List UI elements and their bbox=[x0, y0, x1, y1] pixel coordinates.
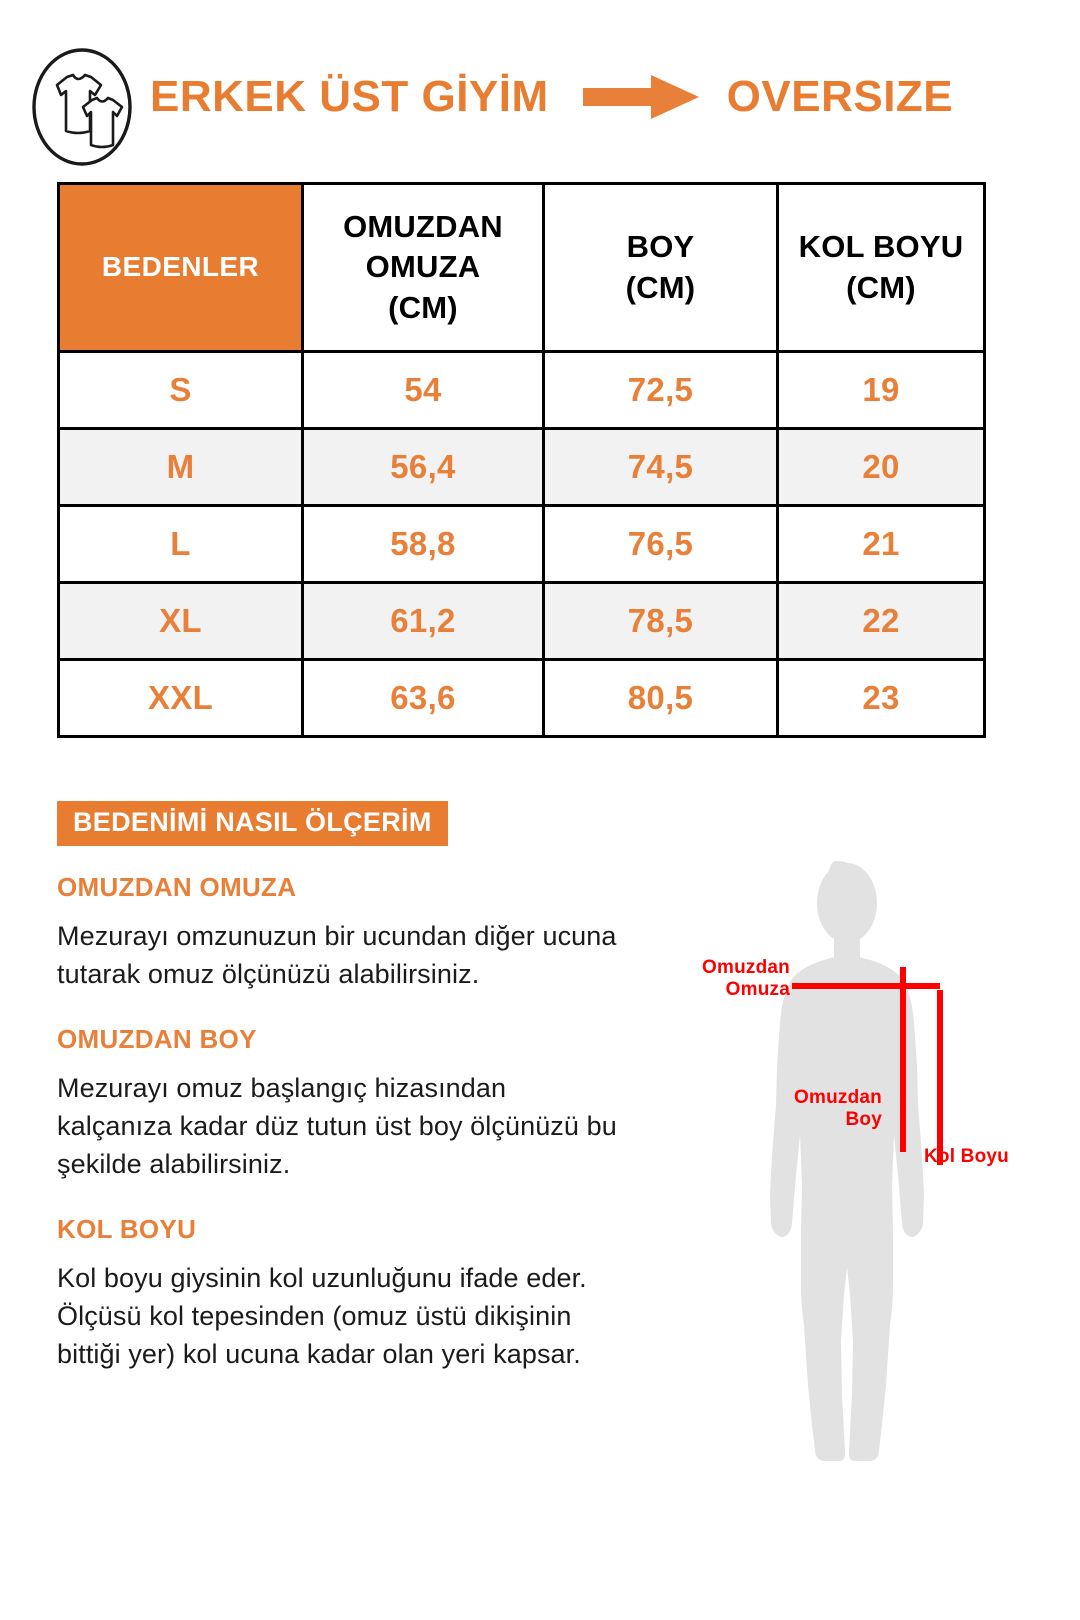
header-title-row: ERKEK ÜST GİYİM OVERSIZE bbox=[150, 62, 953, 132]
section-body-omuzdan-boy: Mezurayı omuz başlangıç hizasından kalça… bbox=[57, 1069, 617, 1184]
cell-omuzdan-omuza: 58,8 bbox=[303, 506, 544, 583]
table-header-row: BEDENLER OMUZDAN OMUZA (CM) BOY (CM) KOL… bbox=[59, 184, 985, 352]
cell-beden: L bbox=[59, 506, 303, 583]
label-line: Omuzdan bbox=[772, 1087, 882, 1109]
section-title-omuzdan-omuza: OMUZDAN OMUZA bbox=[57, 872, 617, 903]
header-line: (CM) bbox=[304, 288, 542, 328]
section-body-omuzdan-omuza: Mezurayı omzunuzun bir ucundan diğer ucu… bbox=[57, 917, 617, 994]
header-line: OMUZA bbox=[304, 247, 542, 287]
table-row: L 58,8 76,5 21 bbox=[59, 506, 985, 583]
label-line: Omuzdan bbox=[630, 957, 790, 979]
category-title: ERKEK ÜST GİYİM bbox=[150, 75, 549, 119]
section-title-omuzdan-boy: OMUZDAN BOY bbox=[57, 1024, 617, 1055]
howto-sections: OMUZDAN OMUZA Mezurayı omzunuzun bir ucu… bbox=[57, 872, 617, 1374]
label-line: Boy bbox=[772, 1109, 882, 1131]
label-line: Omuza bbox=[630, 979, 790, 1001]
cell-kol-boyu: 19 bbox=[778, 352, 985, 429]
label-kol-boyu: Kol Boyu bbox=[924, 1146, 1009, 1168]
cell-omuzdan-omuza: 54 bbox=[303, 352, 544, 429]
right-arrow-icon bbox=[583, 74, 699, 120]
cell-boy: 72,5 bbox=[544, 352, 778, 429]
table-row: XXL 63,6 80,5 23 bbox=[59, 660, 985, 737]
header-line: KOL BOYU bbox=[779, 227, 983, 267]
two-tshirts-circle-icon bbox=[27, 45, 137, 170]
fit-title: OVERSIZE bbox=[727, 75, 954, 119]
cell-omuzdan-omuza: 61,2 bbox=[303, 583, 544, 660]
cell-kol-boyu: 22 bbox=[778, 583, 985, 660]
cell-kol-boyu: 20 bbox=[778, 429, 985, 506]
cell-boy: 74,5 bbox=[544, 429, 778, 506]
cell-beden: XL bbox=[59, 583, 303, 660]
cell-boy: 76,5 bbox=[544, 506, 778, 583]
label-omuzdan-boy: Omuzdan Boy bbox=[772, 1087, 882, 1132]
header-line: (CM) bbox=[545, 268, 776, 308]
header-line: BOY bbox=[545, 227, 776, 267]
header-line: BEDENLER bbox=[60, 249, 301, 285]
cell-beden: S bbox=[59, 352, 303, 429]
table-row: S 54 72,5 19 bbox=[59, 352, 985, 429]
label-line: Kol Boyu bbox=[924, 1146, 1009, 1168]
size-chart-table: BEDENLER OMUZDAN OMUZA (CM) BOY (CM) KOL… bbox=[57, 182, 986, 738]
header-line: OMUZDAN bbox=[304, 207, 542, 247]
cell-omuzdan-omuza: 56,4 bbox=[303, 429, 544, 506]
cell-boy: 80,5 bbox=[544, 660, 778, 737]
cell-beden: M bbox=[59, 429, 303, 506]
section-body-kol-boyu: Kol boyu giysinin kol uzunluğunu ifade e… bbox=[57, 1259, 617, 1374]
cell-kol-boyu: 21 bbox=[778, 506, 985, 583]
cell-boy: 78,5 bbox=[544, 583, 778, 660]
column-header-boy: BOY (CM) bbox=[544, 184, 778, 352]
cell-beden: XXL bbox=[59, 660, 303, 737]
header-line: (CM) bbox=[779, 268, 983, 308]
howto-badge: BEDENİMİ NASIL ÖLÇERİM bbox=[57, 801, 448, 846]
table-row: M 56,4 74,5 20 bbox=[59, 429, 985, 506]
cell-omuzdan-omuza: 63,6 bbox=[303, 660, 544, 737]
label-omuzdan-omuza: Omuzdan Omuza bbox=[630, 957, 790, 1002]
column-header-bedenler: BEDENLER bbox=[59, 184, 303, 352]
column-header-kol-boyu: KOL BOYU (CM) bbox=[778, 184, 985, 352]
section-title-kol-boyu: KOL BOYU bbox=[57, 1214, 617, 1245]
page-header: ERKEK ÜST GİYİM OVERSIZE bbox=[0, 0, 1080, 180]
measurement-diagram: Omuzdan Omuza Omuzdan Boy Kol Boyu bbox=[620, 855, 1060, 1480]
table-row: XL 61,2 78,5 22 bbox=[59, 583, 985, 660]
column-header-omuzdan-omuza: OMUZDAN OMUZA (CM) bbox=[303, 184, 544, 352]
cell-kol-boyu: 23 bbox=[778, 660, 985, 737]
